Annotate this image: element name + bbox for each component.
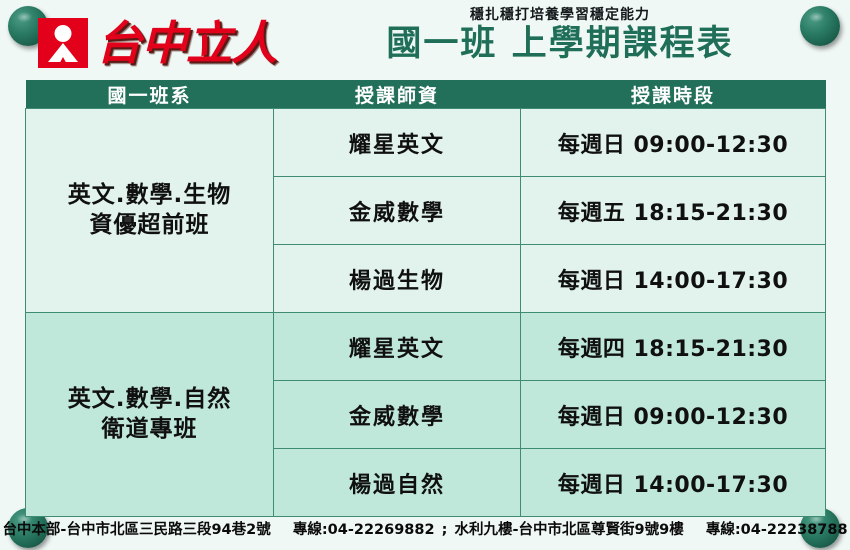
table-row: 英文.數學.生物 資優超前班 耀星英文 每週日 09:00-12:30 (26, 109, 826, 177)
program-line-1: 英文.數學.生物 (26, 181, 273, 210)
table-row: 英文.數學.自然 衛道專班 耀星英文 每週四 18:15-21:30 (26, 313, 826, 381)
headline-block: 穩扎穩打培養學習穩定能力 國一班 上學期課程表 (300, 8, 820, 64)
course-schedule-poster: 台中立人 穩扎穩打培養學習穩定能力 國一班 上學期課程表 國一班系 授課師資 授… (0, 0, 850, 550)
time-cell: 每週五 18:15-21:30 (521, 177, 826, 245)
teacher-cell: 耀星英文 (274, 313, 521, 381)
teacher-cell: 耀星英文 (274, 109, 521, 177)
teacher-cell: 金威數學 (274, 177, 521, 245)
schedule-table: 國一班系 授課師資 授課時段 英文.數學.生物 資優超前班 耀星英文 每週日 0… (25, 80, 826, 517)
column-header-teacher: 授課師資 (274, 80, 521, 109)
footer-separator: ; (440, 522, 450, 538)
person-legs-notch (57, 57, 69, 68)
footer-contact-bar: 台中本部-台中市北區三民路三段94巷2號 專線:04-22269882 ; 水利… (0, 518, 850, 539)
teacher-cell: 金威數學 (274, 381, 521, 449)
branch2-phone: 專線:04-22238788 (706, 522, 848, 538)
tagline: 穩扎穩打培養學習穩定能力 (300, 8, 820, 23)
teacher-cell: 楊過自然 (274, 449, 521, 517)
time-cell: 每週日 14:00-17:30 (521, 449, 826, 517)
time-cell: 每週日 09:00-12:30 (521, 109, 826, 177)
branch1-phone: 專線:04-22269882 (293, 522, 435, 538)
time-cell: 每週日 14:00-17:30 (521, 245, 826, 313)
person-figure-icon (38, 18, 88, 68)
column-header-time: 授課時段 (521, 80, 826, 109)
brand-lockup: 台中立人 (38, 18, 276, 68)
person-head-shape (55, 25, 72, 42)
branch2-address: 水利九樓-台中市北區尊賢街9號9樓 (455, 522, 684, 538)
table-header-row: 國一班系 授課師資 授課時段 (26, 80, 826, 109)
program-line-2: 資優超前班 (26, 211, 273, 240)
brand-name: 台中立人 (96, 20, 276, 66)
program-line-2: 衛道專班 (26, 415, 273, 444)
teacher-cell: 楊過生物 (274, 245, 521, 313)
page-title: 國一班 上學期課程表 (300, 25, 820, 64)
time-cell: 每週四 18:15-21:30 (521, 313, 826, 381)
branch1-address: 台中本部-台中市北區三民路三段94巷2號 (2, 522, 270, 538)
program-line-1: 英文.數學.自然 (26, 385, 273, 414)
time-cell: 每週日 09:00-12:30 (521, 381, 826, 449)
program-name-weidao: 英文.數學.自然 衛道專班 (26, 313, 274, 517)
column-header-program: 國一班系 (26, 80, 274, 109)
program-name-advanced: 英文.數學.生物 資優超前班 (26, 109, 274, 313)
